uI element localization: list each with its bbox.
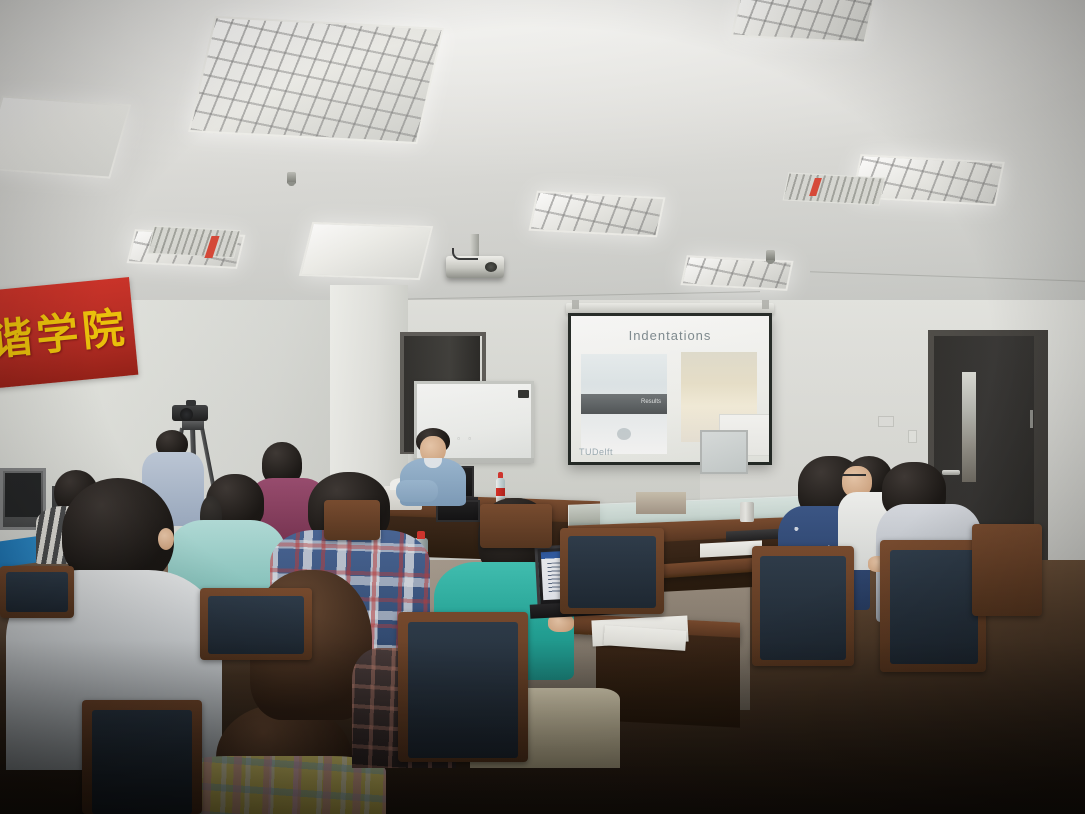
presenter-arm [396, 480, 438, 502]
ceiling-grid-light-large [188, 16, 444, 144]
screen-bracket-right [762, 300, 769, 309]
camera-viewfinder [186, 400, 196, 406]
ceiling-light-left [0, 95, 131, 178]
water-bottle-presenter-label [496, 488, 505, 496]
chair-right-rear[interactable] [972, 524, 1042, 616]
ceiling-light-center [299, 222, 433, 280]
wall-monitor-screen [5, 473, 41, 517]
slide-image-caption: Results [641, 399, 661, 405]
ceiling-grid-light-far-right [731, 0, 875, 44]
ceiling-vent-left [147, 226, 241, 259]
wall-window [700, 430, 748, 474]
beverage-can[interactable] [740, 502, 754, 522]
ceiling-vent-right [783, 172, 886, 205]
door-glass-panel [962, 372, 976, 482]
light-switch[interactable] [908, 430, 917, 443]
slide-image-left-caption-bar: Results [581, 394, 667, 414]
floor-shadow [0, 640, 1085, 814]
water-bottle-front-cap [417, 531, 425, 539]
projector-lens-icon [485, 262, 497, 272]
sprinkler-head-left [287, 172, 296, 184]
slide-title: Indentations [571, 328, 769, 343]
projector-cable [452, 248, 478, 260]
glasses-icon [842, 474, 866, 481]
ceiling-grid-light-right-b [528, 191, 665, 238]
sprinkler-head-right [766, 250, 775, 262]
chair-front-row-extra[interactable] [480, 504, 552, 548]
side-cabinet [636, 492, 686, 514]
wall-socket [878, 416, 894, 427]
slide-logo: TUDelft [579, 447, 613, 457]
conference-room-photo: 谐学院 Indentations Results TUDelft ▫ ▫ ▫ ▫… [0, 0, 1085, 814]
water-bottle-presenter-cap [498, 472, 503, 478]
chair-presenter-left[interactable] [324, 500, 380, 540]
whiteboard-eraser[interactable] [518, 390, 529, 398]
white-shirt-man-ear [158, 528, 174, 550]
door-handle[interactable] [942, 470, 960, 475]
door-hinge [1030, 410, 1033, 428]
camera-lens-icon [180, 408, 193, 421]
chair-left-front-pad [6, 572, 68, 612]
chair-table-left-pad [568, 536, 656, 608]
screen-bracket-left [572, 300, 579, 309]
slide-image-left: Results [581, 354, 667, 454]
ceiling-grid-light-right-c [680, 255, 793, 291]
slide-image-left-detail [617, 428, 631, 440]
